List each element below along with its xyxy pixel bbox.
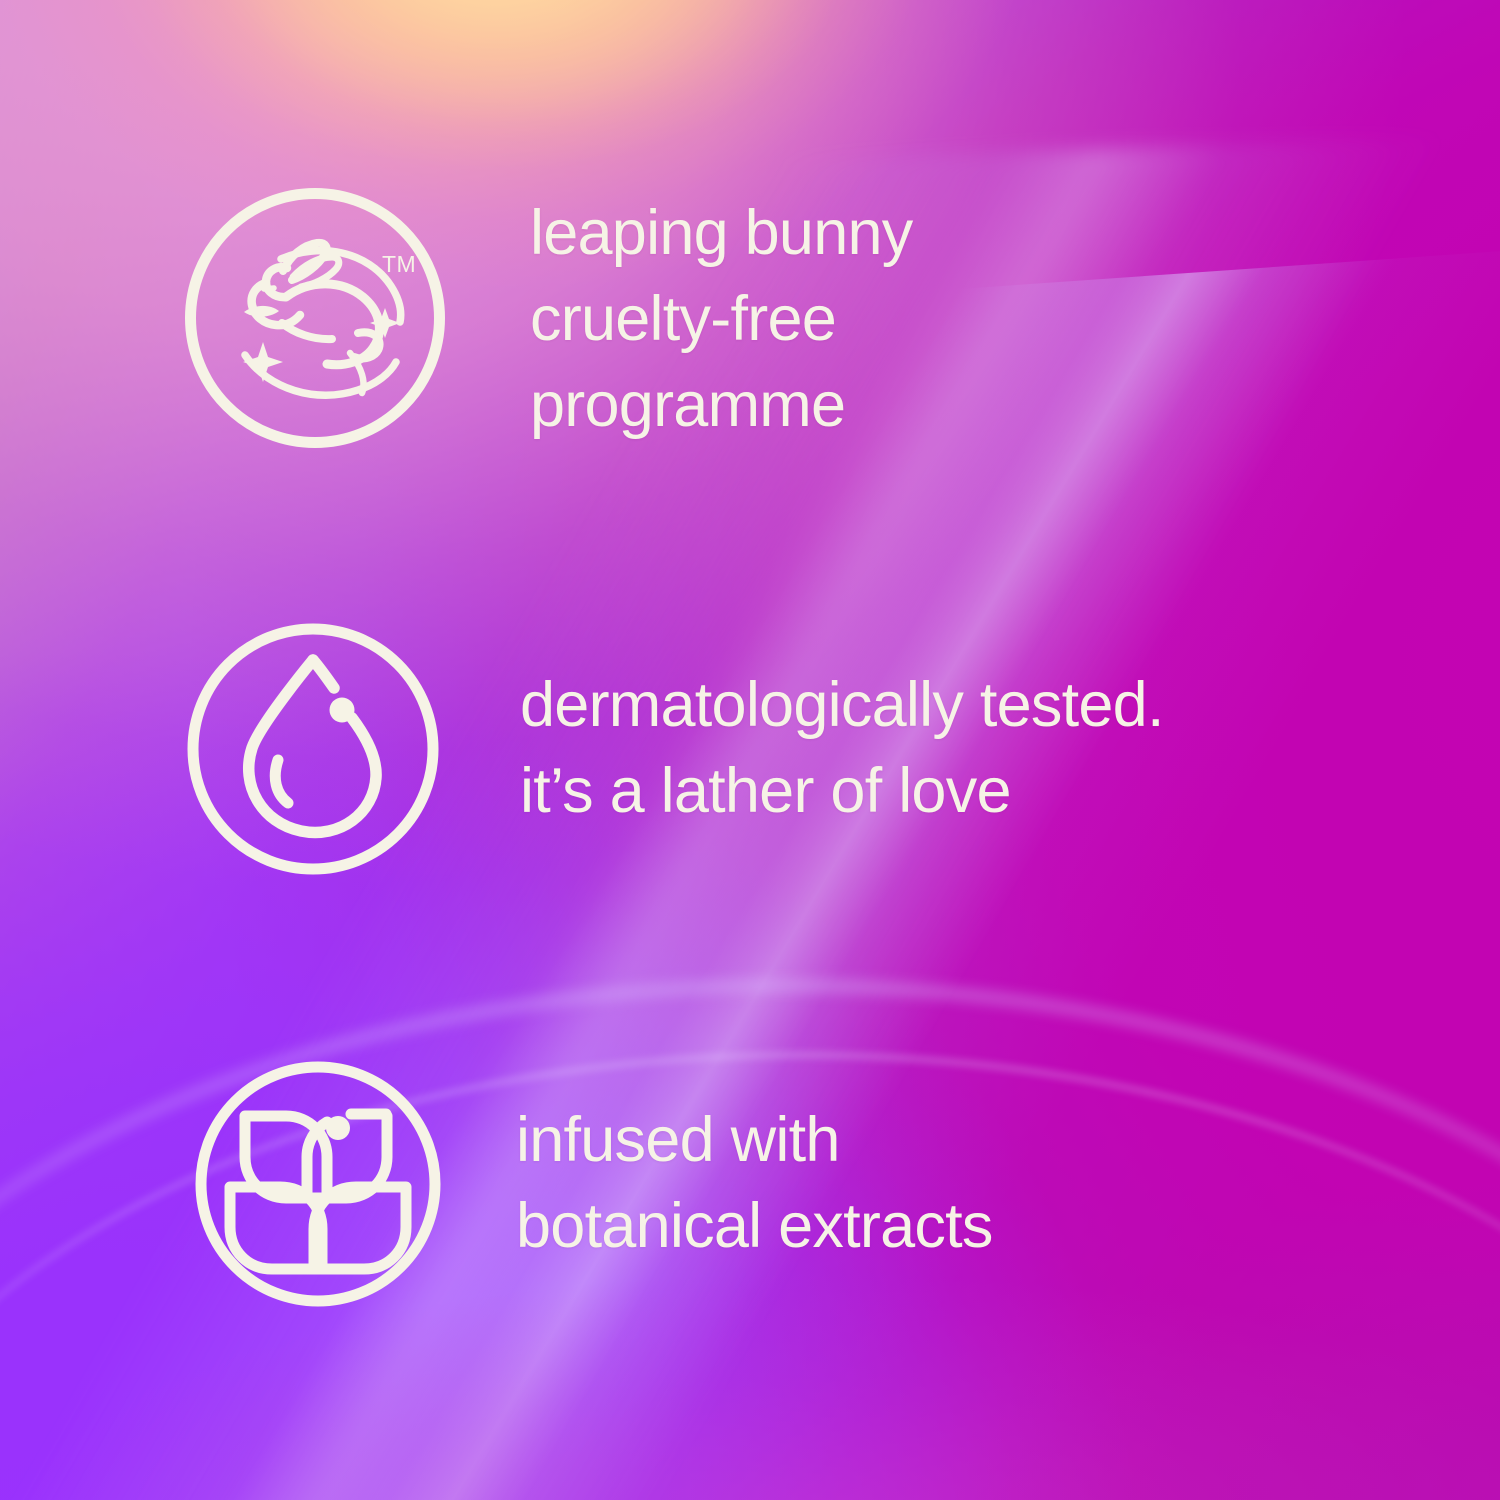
leaping-bunny-icon — [182, 185, 448, 451]
feature-item-botanical-extracts: infused with botanical extracts — [192, 1058, 993, 1310]
water-droplet-icon — [184, 620, 442, 878]
feature-item-leaping-bunny: TM leaping bunny cruelty-free programme — [182, 185, 913, 451]
botanical-leaves-badge — [192, 1058, 444, 1310]
benefit-graphic-canvas: TM leaping bunny cruelty-free programme — [0, 0, 1500, 1500]
botanical-leaves-icon — [192, 1058, 444, 1310]
droplet-highlight-dot — [330, 698, 355, 723]
leaping-bunny-badge: TM — [182, 185, 448, 451]
feature-label-leaping-bunny: leaping bunny cruelty-free programme — [530, 191, 913, 448]
feature-label-dermatologically-tested: dermatologically tested. it’s a lather o… — [520, 663, 1164, 834]
feature-list: TM leaping bunny cruelty-free programme — [0, 0, 1500, 1500]
sparkle-star-icon — [243, 342, 283, 382]
feature-label-botanical-extracts: infused with botanical extracts — [516, 1098, 993, 1269]
trademark-mark: TM — [382, 253, 416, 276]
water-droplet-badge — [184, 620, 442, 878]
feature-item-dermatologically-tested: dermatologically tested. it’s a lather o… — [184, 620, 1164, 878]
botanical-accent-dot — [326, 1116, 350, 1140]
